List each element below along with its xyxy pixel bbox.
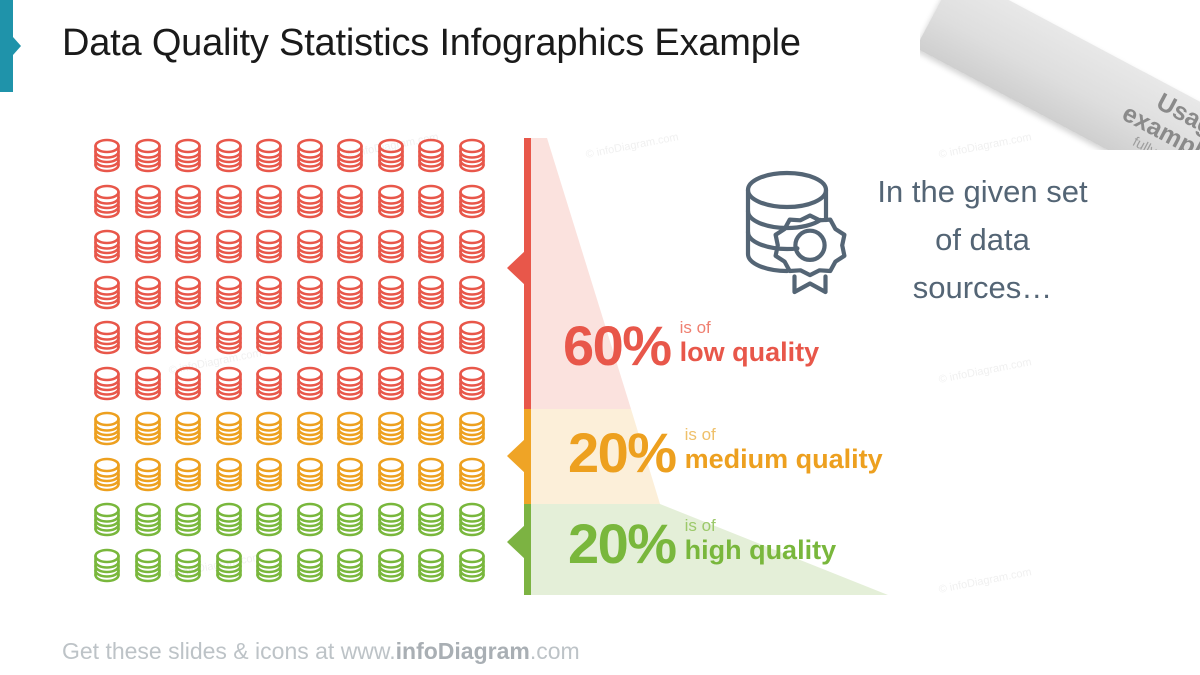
stat-text-high: is of high quality [685,516,837,569]
pictogram-unit [416,184,457,230]
pictogram-unit [173,184,214,230]
stat-text-medium: is of medium quality [685,425,883,478]
arrow-marker-low [507,250,526,286]
stat-isof-low: is of [680,318,820,337]
ribbon-banner: Usage example fully editable [920,0,1200,150]
pictogram-unit [133,138,174,184]
pictogram-unit [254,366,295,412]
stat-percent-low: 60% [563,320,671,372]
pictogram-unit [92,502,133,548]
ribbon-line-2: example [1118,100,1200,150]
pictogram-unit [133,548,174,594]
pictogram-unit [92,229,133,275]
pictogram-unit [295,366,336,412]
pictogram-unit [254,457,295,503]
pictogram-unit [214,457,255,503]
stat-isof-medium: is of [685,425,883,444]
arrow-marker-medium [507,438,526,474]
pictogram-unit [376,184,417,230]
pictogram-unit [335,548,376,594]
pictogram-unit [335,184,376,230]
pictogram-unit [295,275,336,321]
pictogram-unit [376,320,417,366]
pictogram-unit [254,275,295,321]
pictogram-unit [254,548,295,594]
pictogram-unit [416,457,457,503]
pictogram-unit [376,411,417,457]
database-quality-badge-icon [741,168,861,296]
pictogram-unit [92,548,133,594]
pictogram-unit [214,184,255,230]
pictogram-unit [295,184,336,230]
pictogram-unit [173,229,214,275]
page-title: Data Quality Statistics Infographics Exa… [62,22,801,65]
pictogram-unit [335,411,376,457]
pictogram-unit [254,184,295,230]
pictogram-unit [295,320,336,366]
pictogram-unit [335,229,376,275]
pictogram-unit [92,457,133,503]
pictogram-unit [92,138,133,184]
pictogram-unit [133,184,174,230]
stat-percent-high: 20% [568,518,676,570]
pictogram-unit [295,548,336,594]
pictogram-unit [92,320,133,366]
pictogram-unit [173,320,214,366]
pictogram-unit [214,138,255,184]
pictogram-unit [457,548,498,594]
pictogram-unit [457,229,498,275]
pictogram-unit [173,502,214,548]
left-accent-bar [0,0,13,92]
stat-row-high: 20% is of high quality [568,516,836,569]
pictogram-unit [133,457,174,503]
watermark: © infoDiagram.com [938,566,1033,596]
pictogram-unit [376,548,417,594]
stat-quality-medium: medium quality [685,444,883,474]
pictogram-unit [376,138,417,184]
pictogram-unit [335,366,376,412]
pictogram-unit [457,320,498,366]
pictogram-unit [457,502,498,548]
arrow-marker-high [507,524,526,560]
pictogram-unit [92,275,133,321]
ribbon-line-3: fully editable [1111,124,1200,150]
pictogram-unit [457,184,498,230]
pictogram-unit [214,366,255,412]
pictogram-unit [295,502,336,548]
pictogram-unit [92,366,133,412]
pictogram-unit [133,411,174,457]
pictogram-unit [295,457,336,503]
pictogram-unit [416,411,457,457]
pictogram-unit [133,502,174,548]
pictogram-unit [376,366,417,412]
pictogram-unit [416,502,457,548]
watermark: © infoDiagram.com [938,131,1033,161]
pictogram-unit [173,457,214,503]
pictogram-unit [457,366,498,412]
footer-prefix: Get these slides & icons at www. [62,638,396,664]
slide-canvas: Data Quality Statistics Infographics Exa… [0,0,1200,675]
footer-brand: infoDiagram [396,638,530,664]
pictogram-unit [254,229,295,275]
left-accent-notch [13,37,21,55]
pictogram-unit [173,366,214,412]
stat-quality-high: high quality [685,535,837,565]
pictogram-unit [92,411,133,457]
pictogram-unit [133,366,174,412]
pictogram-unit [335,138,376,184]
pictogram-unit [376,275,417,321]
caption-text: In the given set of data sources… [875,168,1090,312]
pictogram-unit [416,548,457,594]
ribbon-line-1: Usage [1130,78,1200,147]
stat-row-medium: 20% is of medium quality [568,425,883,478]
stat-isof-high: is of [685,516,837,535]
pictogram-unit [173,411,214,457]
pictogram-unit [376,457,417,503]
pictogram-unit [173,275,214,321]
pictogram-unit [457,138,498,184]
pictogram-unit [295,411,336,457]
pictogram-unit [416,229,457,275]
pictogram-unit [214,502,255,548]
pictogram-unit [457,275,498,321]
stat-row-low: 60% is of low quality [563,318,819,371]
pictogram-unit [295,229,336,275]
pictogram-unit [335,320,376,366]
stat-quality-low: low quality [680,337,820,367]
usage-example-ribbon: Usage example fully editable [920,0,1200,150]
pictogram-grid [92,138,497,593]
pictogram-unit [376,229,417,275]
pictogram-unit [376,502,417,548]
pictogram-unit [214,411,255,457]
pictogram-unit [214,229,255,275]
pictogram-unit [416,138,457,184]
pictogram-unit [416,366,457,412]
pictogram-unit [416,275,457,321]
pictogram-unit [254,320,295,366]
stat-percent-medium: 20% [568,427,676,479]
pictogram-unit [214,548,255,594]
pictogram-unit [133,229,174,275]
pictogram-unit [416,320,457,366]
pictogram-unit [214,275,255,321]
pictogram-unit [295,138,336,184]
pictogram-unit [254,411,295,457]
pictogram-unit [254,138,295,184]
pictogram-unit [214,320,255,366]
pictogram-unit [133,320,174,366]
stat-text-low: is of low quality [680,318,820,371]
pictogram-unit [92,184,133,230]
footer-credit[interactable]: Get these slides & icons at www.infoDiag… [62,638,580,665]
ribbon-text: Usage example fully editable [1111,78,1200,150]
watermark: © infoDiagram.com [938,356,1033,386]
pictogram-unit [335,457,376,503]
pictogram-unit [457,457,498,503]
footer-suffix: .com [530,638,580,664]
pictogram-unit [173,548,214,594]
pictogram-unit [133,275,174,321]
pictogram-unit [335,502,376,548]
pictogram-unit [335,275,376,321]
pictogram-unit [173,138,214,184]
pictogram-unit [254,502,295,548]
pictogram-unit [457,411,498,457]
